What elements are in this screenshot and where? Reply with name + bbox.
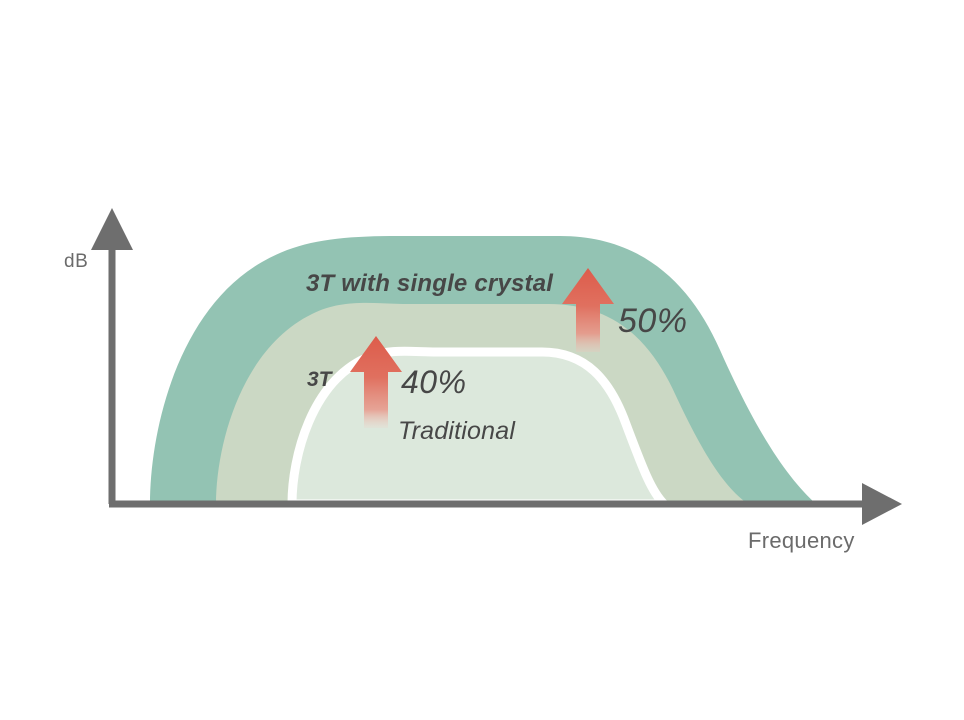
label-3t: 3T xyxy=(307,369,332,390)
y-axis-label: dB xyxy=(64,252,88,271)
diagram-canvas: dB Frequency 3T with single crystal 3T 5… xyxy=(0,0,964,720)
x-axis-arrowhead xyxy=(862,483,902,525)
x-axis-label: Frequency xyxy=(748,530,855,552)
y-axis-arrowhead xyxy=(91,208,133,250)
y-axis xyxy=(91,208,133,504)
bandwidth-curve-figure xyxy=(0,0,964,720)
label-3t-single-crystal: 3T with single crystal xyxy=(306,272,553,296)
label-40-percent: 40% xyxy=(401,366,467,398)
label-traditional: Traditional xyxy=(398,419,515,444)
label-50-percent: 50% xyxy=(618,304,688,338)
